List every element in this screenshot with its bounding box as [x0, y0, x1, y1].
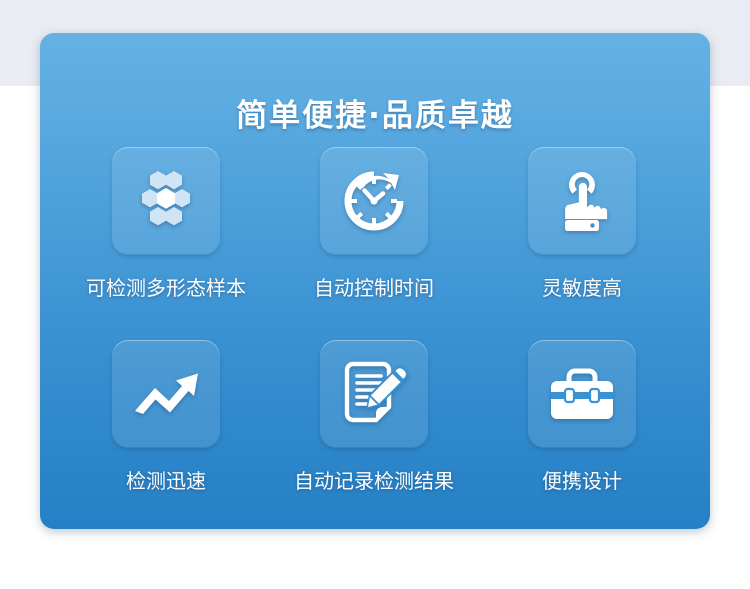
- toolbox-icon: [545, 363, 619, 425]
- feature-item-high-sensitivity[interactable]: 灵敏度高: [478, 147, 686, 340]
- page-title: 简单便捷·品质卓越: [40, 90, 710, 135]
- feature-label: 可检测多形态样本: [86, 272, 246, 301]
- feature-item-auto-record[interactable]: 自动记录检测结果: [270, 340, 478, 529]
- icon-tile[interactable]: [112, 340, 220, 448]
- feature-item-multi-sample[interactable]: 可检测多形态样本: [62, 147, 270, 340]
- feature-item-auto-timing[interactable]: 自动控制时间: [270, 147, 478, 340]
- feature-item-portable-design[interactable]: 便携设计: [478, 340, 686, 529]
- document-pencil-icon: [340, 358, 408, 430]
- feature-label: 便携设计: [542, 465, 622, 494]
- feature-label: 灵敏度高: [542, 272, 622, 301]
- feature-grid: 可检测多形态样本: [62, 147, 688, 529]
- feature-label: 自动控制时间: [314, 272, 434, 301]
- clock-arrow-icon: [337, 164, 411, 238]
- feature-item-fast-detection[interactable]: 检测迅速: [62, 340, 270, 529]
- feature-label: 自动记录检测结果: [294, 465, 454, 494]
- trend-up-arrow-icon: [129, 364, 203, 424]
- icon-tile[interactable]: [528, 147, 636, 255]
- feature-card: 简单便捷·品质卓越: [40, 33, 710, 529]
- feature-label: 检测迅速: [126, 465, 206, 494]
- icon-tile[interactable]: [320, 340, 428, 448]
- icon-tile[interactable]: [320, 147, 428, 255]
- icon-tile[interactable]: [528, 340, 636, 448]
- icon-tile[interactable]: [112, 147, 220, 255]
- touch-hand-icon: [550, 165, 614, 237]
- hexagon-cluster-icon: [130, 165, 202, 237]
